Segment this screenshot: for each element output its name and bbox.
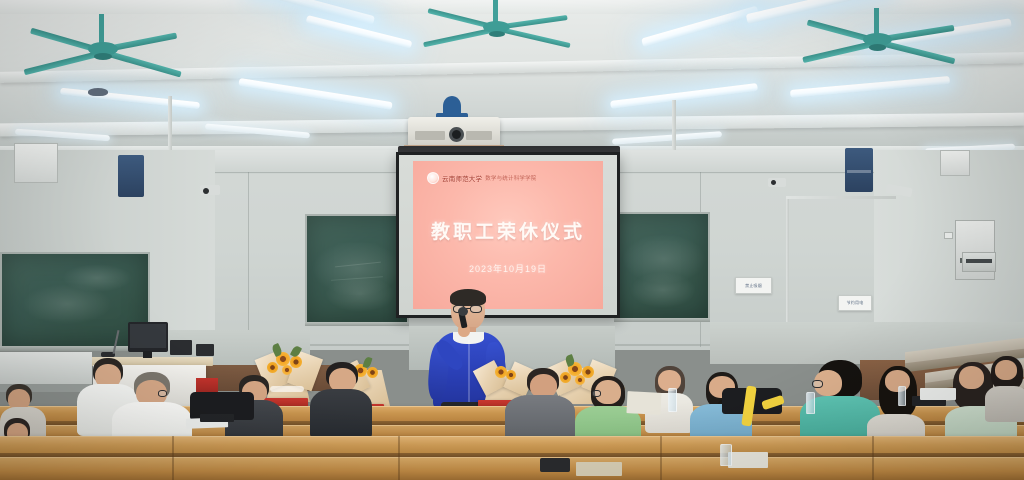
paper-near-bench: [728, 452, 768, 468]
audience-person-2: [112, 372, 192, 442]
wall-sign-2-text: 节约用电: [847, 300, 864, 306]
wall-conduit-2: [786, 196, 896, 199]
wall-vent-left: [14, 143, 58, 183]
bench-divider-1: [172, 436, 174, 480]
desk-equipment: [170, 340, 192, 355]
audience-person-13: [985, 356, 1024, 412]
sunflower: [290, 356, 302, 368]
wall-conduit-1: [786, 196, 789, 341]
wall-box-right: [940, 150, 970, 176]
chalkboard-center: [305, 214, 409, 324]
wall-sign-1-text: 禁止吸烟: [745, 283, 762, 289]
bench-divider-3: [660, 436, 662, 480]
paper-stack-2: [920, 388, 956, 400]
speaker-glasses-right: [470, 305, 482, 313]
notebook-near: [576, 462, 622, 476]
projected-slide: 云南师范大学 数学与统计科学学院 教职工荣休仪式 2023年10月19日: [413, 161, 603, 309]
sunflower: [282, 365, 292, 375]
bench-front-row-2: [0, 457, 1024, 480]
speaker-hair: [450, 289, 486, 306]
water-bottle-1: [668, 388, 677, 412]
smoke-detector-icon: [88, 88, 108, 96]
wall-sign-2: 节约用电: [838, 295, 872, 311]
water-bottle-3: [898, 386, 906, 406]
desk-monitor: [128, 322, 168, 352]
laptop-1: [200, 414, 234, 422]
chalkboard-right: [614, 212, 710, 320]
audience-person-6: [505, 368, 575, 430]
slide-org-name: 云南师范大学: [442, 173, 482, 183]
chalk-rail-right: [614, 318, 710, 322]
ceiling-slab: [0, 0, 1024, 14]
wall-sign-1: 禁止吸烟: [735, 277, 772, 294]
desk-box: [196, 344, 214, 356]
speaker-grille: [847, 170, 871, 173]
monitor-stand: [143, 351, 152, 358]
slide-org-sub: 数学与统计科学学院: [485, 174, 536, 182]
water-bottle-2: [806, 392, 815, 414]
speaker-jacket-zipper: [468, 340, 470, 406]
university-emblem-icon: [427, 172, 439, 184]
slide-title: 教职工荣休仪式: [413, 217, 603, 244]
sunflower: [267, 362, 278, 373]
ceiling-pole-left: [168, 96, 172, 158]
ceiling-pole-right: [672, 100, 676, 150]
microphone-head: [458, 307, 468, 316]
notebook-1: [626, 391, 661, 415]
slide-date: 2023年10月19日: [413, 262, 603, 275]
bench-desk-row-2: [0, 436, 1024, 454]
wall-seam-2: [248, 172, 249, 347]
bench-divider-4: [872, 436, 874, 480]
bench-divider-2: [398, 436, 400, 480]
wall-speaker-left: [118, 155, 144, 197]
phone-on-desk: [540, 458, 570, 472]
water-bottle-4: [720, 444, 732, 466]
chalk-rail-center: [305, 322, 409, 326]
lecture-hall-photo: 禁止吸烟 节约用电 爱护公物 云南师范大学: [0, 0, 1024, 480]
audience-person-5: [310, 362, 372, 428]
